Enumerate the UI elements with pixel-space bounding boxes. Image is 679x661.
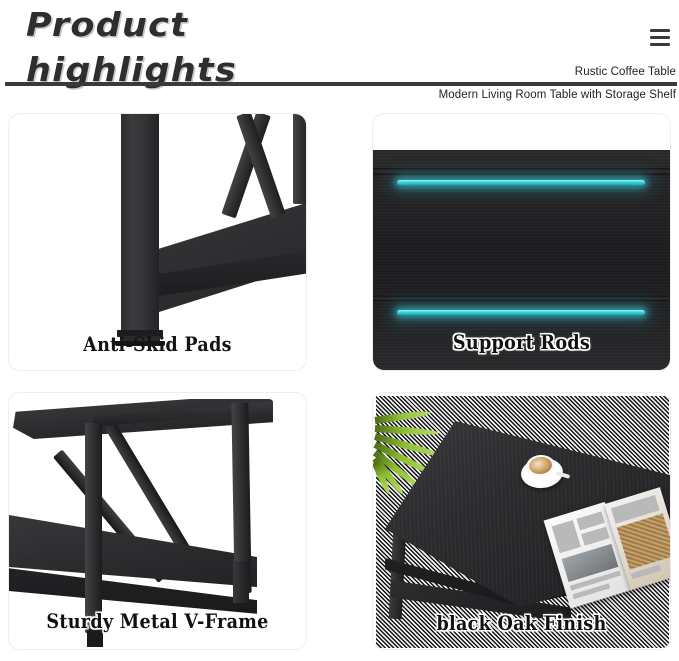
page-title: Product highlights: [26, 0, 446, 86]
hamburger-bar-1: [650, 29, 670, 32]
frame-leg-front: [85, 423, 102, 633]
table-leg-post: [121, 113, 159, 332]
highlight-panel-support-rods[interactable]: Support Rods: [372, 113, 671, 371]
support-rod-upper: [397, 180, 645, 185]
page-header: Product highlights Rustic Coffee Table M…: [0, 0, 679, 108]
panel-caption-anti-skid: Anti-Skid Pads: [27, 332, 288, 356]
highlight-panel-oak-finish[interactable]: black Oak Finish: [372, 392, 671, 650]
highlight-panel-v-frame[interactable]: Sturdy Metal V-Frame: [8, 392, 307, 650]
panel-caption-oak-finish: black Oak Finish: [391, 611, 652, 635]
frame-foot-rear: [233, 561, 249, 603]
panel-caption-support-rods: Support Rods: [391, 330, 652, 354]
frond-1: [375, 409, 432, 424]
product-subtitle-label: Modern Living Room Table with Storage Sh…: [439, 89, 676, 101]
upper-groove: [373, 168, 671, 175]
product-name-label: Rustic Coffee Table: [575, 66, 676, 78]
support-rod-lower: [397, 310, 645, 315]
hamburger-bar-3: [650, 43, 670, 46]
page-title-line-1: Product: [26, 8, 471, 41]
hamburger-menu-icon[interactable]: [650, 29, 670, 46]
hamburger-bar-2: [650, 36, 670, 39]
lower-groove: [373, 296, 671, 301]
panel-caption-v-frame: Sturdy Metal V-Frame: [27, 609, 288, 633]
header-divider-rule: [5, 82, 677, 86]
highlight-panel-anti-skid[interactable]: Anti-Skid Pads: [8, 113, 307, 371]
rear-post: [293, 113, 307, 204]
